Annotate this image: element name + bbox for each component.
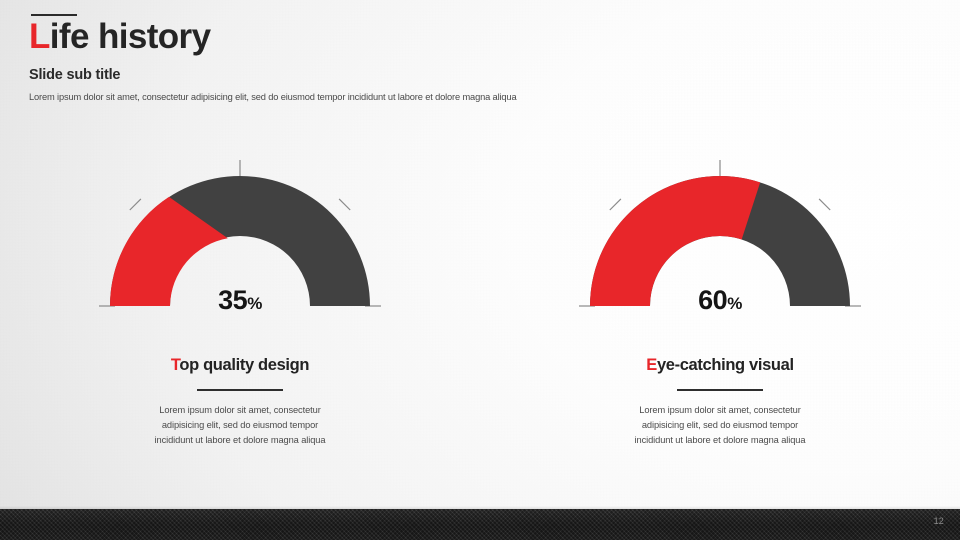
caption-title-2: Eye-catching visual: [555, 356, 885, 375]
gauge-value-2: 60%: [565, 287, 875, 314]
slide: Life history Slide sub title Lorem ipsum…: [0, 0, 960, 540]
caption-title-1: Top quality design: [75, 356, 405, 375]
caption-rule-1: [197, 389, 283, 391]
title-rule-decoration: [31, 14, 77, 16]
gauge-value-1: 35%: [85, 287, 395, 314]
slide-footer: 12: [0, 509, 960, 540]
page-number: 12: [934, 516, 944, 526]
caption-body-1: Lorem ipsum dolor sit amet, consectetur …: [75, 403, 405, 448]
caption-title-rest-2: ye-catching visual: [657, 356, 794, 374]
page-title-accent-letter: L: [29, 17, 50, 56]
gauge-tick-75: [819, 199, 830, 210]
slide-header: Life history Slide sub title Lorem ipsum…: [29, 14, 516, 102]
caption-body-2: Lorem ipsum dolor sit amet, consectetur …: [555, 403, 885, 448]
caption-body-line-2c: incididunt ut labore et dolore magna ali…: [555, 433, 885, 448]
caption-body-line-2b: adipisicing elit, sed do eiusmod tempor: [555, 418, 885, 433]
gauge-tick-25: [610, 199, 621, 210]
caption-body-line-1c: incididunt ut labore et dolore magna ali…: [75, 433, 405, 448]
gauge-tick-75: [339, 199, 350, 210]
caption-rule-2: [677, 389, 763, 391]
caption-body-line-1b: adipisicing elit, sed do eiusmod tempor: [75, 418, 405, 433]
slide-sub-title: Slide sub title: [29, 67, 516, 83]
gauge-value-number-1: 35: [218, 285, 247, 315]
gauge-tick-25: [130, 199, 141, 210]
gauge-chart-1: 35%: [85, 148, 395, 320]
gauge-caption-2: Eye-catching visual Lorem ipsum dolor si…: [555, 356, 885, 448]
gauge-value-unit-2: %: [727, 294, 742, 313]
gauge-block-top-quality-design: 35% Top quality design Lorem ipsum dolor…: [0, 148, 480, 448]
gauge-row: 35% Top quality design Lorem ipsum dolor…: [0, 148, 960, 448]
gauge-caption-1: Top quality design Lorem ipsum dolor sit…: [75, 356, 405, 448]
caption-title-accent-2: E: [646, 356, 657, 374]
slide-intro-text: Lorem ipsum dolor sit amet, consectetur …: [29, 92, 516, 102]
caption-body-line-1a: Lorem ipsum dolor sit amet, consectetur: [75, 403, 405, 418]
gauge-block-eye-catching-visual: 60% Eye-catching visual Lorem ipsum dolo…: [480, 148, 960, 448]
footer-shadow: [0, 506, 960, 509]
gauge-value-unit-1: %: [247, 294, 262, 313]
page-title: Life history: [29, 19, 516, 55]
gauge-chart-2: 60%: [565, 148, 875, 320]
caption-body-line-2a: Lorem ipsum dolor sit amet, consectetur: [555, 403, 885, 418]
page-title-rest: ife history: [50, 17, 211, 56]
gauge-value-number-2: 60: [698, 285, 727, 315]
caption-title-rest-1: op quality design: [179, 356, 309, 374]
